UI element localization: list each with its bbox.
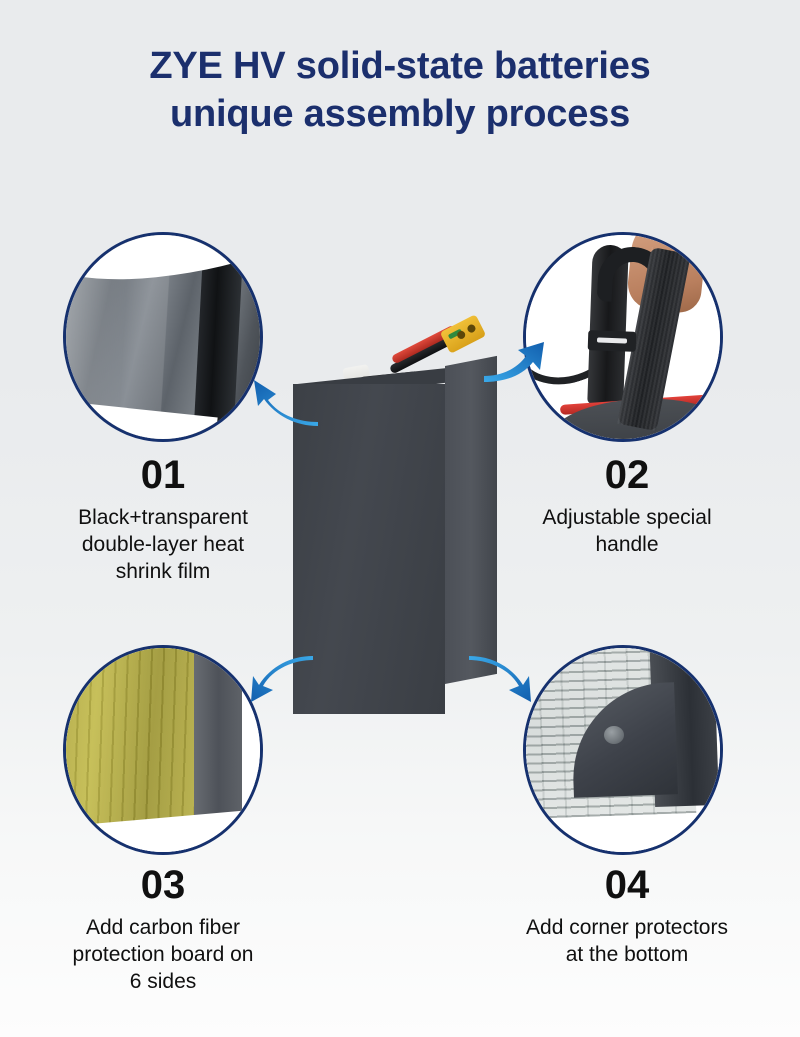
feature-text-04: Add corner protectors at the bottom xyxy=(477,914,777,968)
photo-carbon-fiber-board xyxy=(66,648,260,852)
arrow-to-feature-04 xyxy=(467,652,537,713)
feature-number-04: 04 xyxy=(477,862,777,908)
feature-photo-04 xyxy=(523,645,723,855)
xt60-connector xyxy=(440,314,487,354)
arrow-to-feature-01 xyxy=(252,372,322,433)
caption-line: Black+transparent xyxy=(13,504,313,531)
feature-photo-03 xyxy=(63,645,263,855)
feature-text-02: Adjustable special handle xyxy=(477,504,777,558)
board-side-shape xyxy=(190,648,242,825)
title-line-2: unique assembly process xyxy=(0,90,800,138)
photo-heat-shrink-film xyxy=(66,235,260,439)
feature-caption-02: 02 Adjustable special handle xyxy=(477,452,777,558)
arrow-to-feature-02 xyxy=(482,332,552,393)
caption-line: Add corner protectors xyxy=(477,914,777,941)
caption-line: Adjustable special xyxy=(477,504,777,531)
arrow-to-feature-03 xyxy=(247,652,317,713)
caption-line: shrink film xyxy=(13,558,313,585)
caption-line: Add carbon fiber xyxy=(13,914,313,941)
infographic-page: ZYE HV solid-state batteries unique asse… xyxy=(0,0,800,1037)
feature-caption-01: 01 Black+transparent double-layer heat s… xyxy=(13,452,313,585)
photo-corner-protector xyxy=(526,648,720,852)
feature-text-01: Black+transparent double-layer heat shri… xyxy=(13,504,313,585)
feature-photo-02 xyxy=(523,232,723,442)
feature-number-01: 01 xyxy=(13,452,313,498)
caption-line: double-layer heat xyxy=(13,531,313,558)
corner-protector-hole xyxy=(604,726,624,744)
caption-line: protection board on xyxy=(13,941,313,968)
caption-line: 6 sides xyxy=(13,968,313,995)
photo-handle-strap xyxy=(526,235,720,439)
feature-number-03: 03 xyxy=(13,862,313,908)
feature-number-02: 02 xyxy=(477,452,777,498)
feature-text-03: Add carbon fiber protection board on 6 s… xyxy=(13,914,313,995)
feature-caption-04: 04 Add corner protectors at the bottom xyxy=(477,862,777,968)
strap-buckle-shape xyxy=(588,330,637,352)
carbon-fiber-panel-shape xyxy=(66,648,194,840)
caption-line: handle xyxy=(477,531,777,558)
feature-caption-03: 03 Add carbon fiber protection board on … xyxy=(13,862,313,995)
caption-line: at the bottom xyxy=(477,941,777,968)
page-title: ZYE HV solid-state batteries unique asse… xyxy=(0,42,800,138)
title-line-1: ZYE HV solid-state batteries xyxy=(0,42,800,90)
feature-photo-01 xyxy=(63,232,263,442)
